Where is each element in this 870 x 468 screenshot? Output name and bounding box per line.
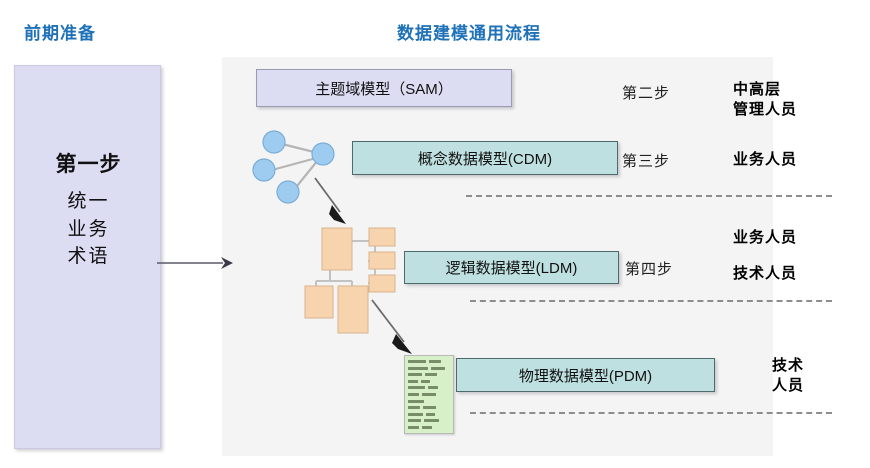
role-pdm-line-2: 人员 bbox=[772, 376, 804, 396]
step-label-two: 第二步 bbox=[622, 82, 670, 103]
role-sam-line-2: 管理人员 bbox=[733, 100, 797, 120]
preparation-step-box: 第一步 统一 业务 术语 bbox=[14, 65, 161, 449]
model-box-ldm[interactable]: 逻辑数据模型(LDM) bbox=[404, 251, 619, 284]
role-label-cdm: 业务人员 bbox=[733, 150, 797, 170]
preparation-step-content: 第一步 统一 业务 术语 bbox=[15, 148, 162, 271]
role-label-ldm: 业务人员 技术人员 bbox=[733, 228, 797, 285]
preparation-line-3: 术语 bbox=[15, 243, 162, 271]
preparation-line-2: 业务 bbox=[15, 216, 162, 244]
role-label-pdm: 技术 人员 bbox=[772, 356, 804, 397]
divider-line-2 bbox=[470, 300, 832, 302]
preparation-line-1: 统一 bbox=[15, 188, 162, 216]
step-label-three: 第三步 bbox=[622, 150, 670, 171]
role-sam-line-1: 中高层 bbox=[733, 80, 797, 100]
divider-line-3 bbox=[470, 412, 832, 414]
model-box-sam[interactable]: 主题域模型（SAM） bbox=[256, 69, 512, 107]
role-ldm-line-2: 技术人员 bbox=[733, 264, 797, 284]
divider-line-1 bbox=[466, 195, 832, 197]
model-box-pdm[interactable]: 物理数据模型(PDM) bbox=[456, 358, 715, 392]
model-box-cdm[interactable]: 概念数据模型(CDM) bbox=[352, 141, 618, 175]
preparation-step-title: 第一步 bbox=[15, 148, 162, 178]
diagram-canvas: 前期准备 数据建模通用流程 第一步 统一 业务 术语 bbox=[0, 0, 870, 468]
role-pdm-line-1: 技术 bbox=[772, 356, 804, 376]
step-label-four: 第四步 bbox=[625, 258, 673, 279]
heading-preparation: 前期准备 bbox=[24, 19, 96, 44]
table-schema-icon bbox=[404, 355, 454, 434]
right-arrow-icon bbox=[155, 248, 240, 278]
heading-modeling-flow: 数据建模通用流程 bbox=[397, 19, 541, 44]
role-label-sam: 中高层 管理人员 bbox=[733, 80, 797, 121]
role-ldm-line-1: 业务人员 bbox=[733, 228, 797, 248]
